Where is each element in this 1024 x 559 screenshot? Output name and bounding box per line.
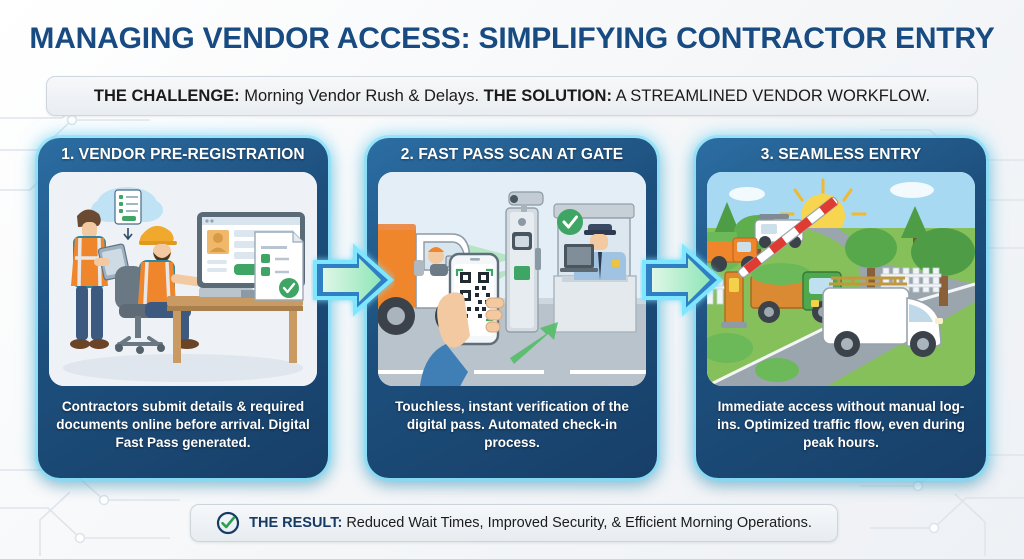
step-2-caption: Touchless, instant verification of the d…	[367, 386, 657, 451]
step-1-caption: Contractors submit details & required do…	[38, 386, 328, 451]
step-2-header: 2. FAST PASS SCAN AT GATE	[367, 138, 657, 172]
flow-arrow-step2-to-step3	[640, 242, 724, 318]
solution-text: A STREAMLINED VENDOR WORKFLOW.	[612, 87, 930, 105]
flow-arrow-step1-to-step2	[311, 242, 395, 318]
vendor-pre-registration-illustration	[49, 172, 317, 386]
seamless-entry-illustration	[707, 172, 975, 386]
challenge-text: Morning Vendor Rush & Delays.	[240, 87, 484, 105]
result-banner: THE RESULT: Reduced Wait Times, Improved…	[190, 504, 838, 542]
steps-row: 1. VENDOR PRE-REGISTRATION	[0, 138, 1024, 483]
challenge-solution-text: THE CHALLENGE: Morning Vendor Rush & Del…	[94, 87, 930, 106]
challenge-solution-banner: THE CHALLENGE: Morning Vendor Rush & Del…	[46, 76, 978, 116]
result-label: THE RESULT:	[249, 515, 342, 531]
fast-pass-scan-illustration	[378, 172, 646, 386]
booth-monitor	[560, 244, 598, 272]
infographic-root: MANAGING VENDOR ACCESS: SIMPLIFYING CONT…	[0, 0, 1024, 559]
result-text: THE RESULT: Reduced Wait Times, Improved…	[249, 515, 812, 531]
challenge-label: THE CHALLENGE:	[94, 87, 240, 105]
green-check-badge	[557, 209, 583, 235]
circled-check-icon	[216, 511, 240, 535]
step-1-header: 1. VENDOR PRE-REGISTRATION	[38, 138, 328, 172]
step-card-1[interactable]: 1. VENDOR PRE-REGISTRATION	[38, 138, 328, 478]
guard-booth	[554, 204, 636, 332]
step-card-2[interactable]: 2. FAST PASS SCAN AT GATE	[367, 138, 657, 478]
step-3-caption: Immediate access without manual log-ins.…	[696, 386, 986, 451]
page-title: MANAGING VENDOR ACCESS: SIMPLIFYING CONT…	[0, 22, 1024, 56]
approved-document-checklist	[255, 232, 303, 300]
step-card-3[interactable]: 3. SEAMLESS ENTRY	[696, 138, 986, 478]
step-3-header: 3. SEAMLESS ENTRY	[696, 138, 986, 172]
scanner-kiosk	[506, 208, 541, 332]
solution-label: THE SOLUTION:	[484, 87, 612, 105]
result-detail: Reduced Wait Times, Improved Security, &…	[342, 515, 812, 531]
